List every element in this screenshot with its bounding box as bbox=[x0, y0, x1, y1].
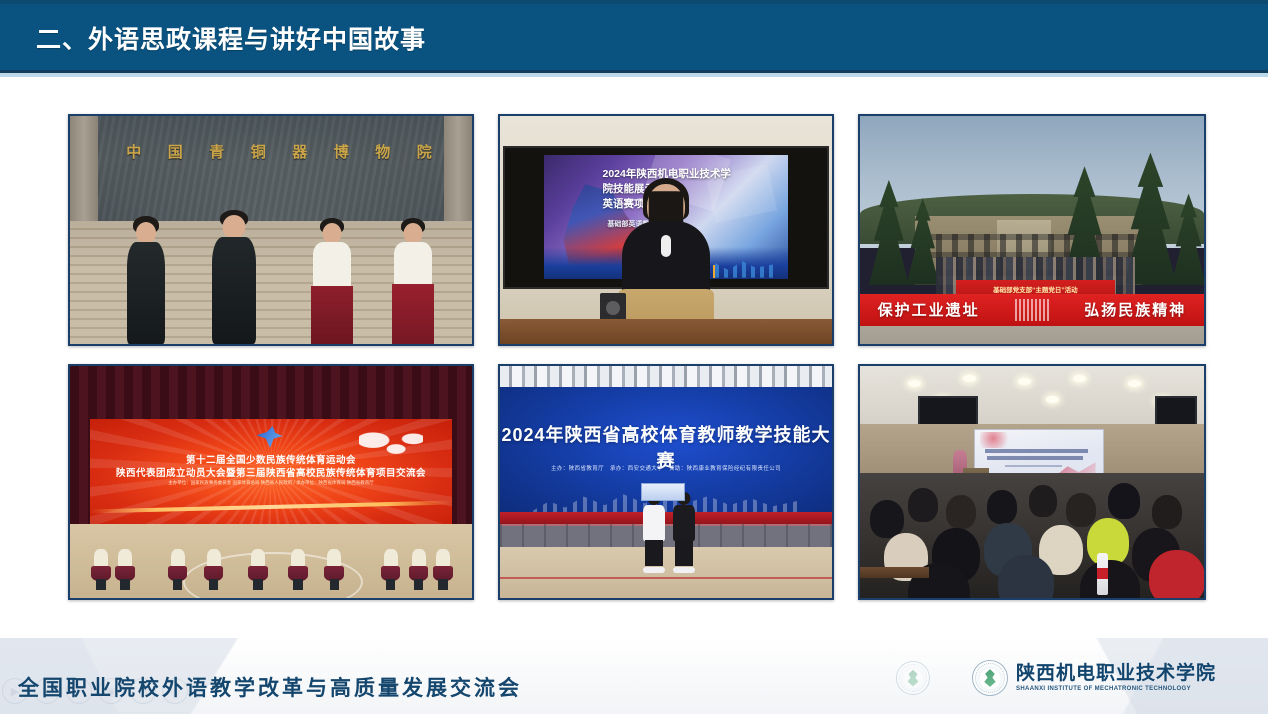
classroom-desk bbox=[500, 319, 832, 344]
ceiling-light-icon bbox=[908, 380, 921, 387]
microphone-icon bbox=[661, 235, 671, 257]
banner-left-text: 保护工业遗址 bbox=[878, 299, 980, 320]
ceiling-light-icon bbox=[1046, 396, 1059, 403]
person-figure bbox=[211, 210, 257, 344]
person-figure bbox=[126, 216, 166, 344]
audience-head-front bbox=[1080, 560, 1140, 598]
audience-head bbox=[987, 490, 1017, 524]
museum-pillar-right bbox=[444, 116, 472, 225]
audience-head bbox=[1066, 493, 1096, 527]
audience-head bbox=[870, 500, 904, 538]
figure-body bbox=[313, 242, 351, 290]
audience-head bbox=[1029, 485, 1057, 517]
audience-head bbox=[946, 495, 976, 529]
secondary-emblem-icon bbox=[896, 661, 930, 695]
gym-ceiling bbox=[500, 366, 832, 387]
banner-main: 保护工业遗址 弘扬民族精神 bbox=[860, 294, 1204, 326]
sign-char: 青 bbox=[209, 141, 224, 162]
photo-lecture-hall[interactable] bbox=[858, 364, 1206, 600]
sign-char: 院 bbox=[417, 141, 432, 162]
footer-conference-title: 全国职业院校外语教学改革与高质量发展交流会 bbox=[18, 672, 522, 702]
header-accent-strip bbox=[0, 73, 1268, 77]
backdrop-subtitle: 主办：陕西省教育厅 承办：西安交通大学 赞助：陕西康业教育保险经纪有限责任公司 bbox=[500, 464, 832, 472]
dancer-figure bbox=[251, 549, 265, 589]
banner-seal-icon bbox=[1015, 299, 1049, 321]
dancer-figure bbox=[94, 549, 108, 589]
dancer-figure bbox=[327, 549, 341, 589]
projection-line-3 bbox=[1005, 465, 1062, 467]
photo-grid: 中 国 青 铜 器 博 物 院 bbox=[68, 114, 1206, 600]
screen-line-1: 2024年陕西机电职业技术学 bbox=[602, 167, 778, 182]
audience-head bbox=[1152, 495, 1182, 529]
slide-root: 二、外语思政课程与讲好中国故事 中 国 青 铜 器 博 物 院 bbox=[0, 0, 1268, 714]
backdrop-line-3: 主办单位：国家民族事务委员会 国家体育总局 陕西省人民政府 / 承办单位：陕西省… bbox=[90, 480, 452, 487]
projection-line-1 bbox=[985, 449, 1088, 453]
award-certificate bbox=[641, 483, 685, 501]
page-title: 二、外语思政课程与讲好中国故事 bbox=[36, 20, 426, 56]
museum-wall bbox=[70, 116, 472, 225]
photo-bronze-museum[interactable]: 中 国 青 铜 器 博 物 院 bbox=[68, 114, 474, 346]
audience-head bbox=[1108, 483, 1140, 519]
photo-lecture-hall-content bbox=[860, 366, 1204, 598]
hall-ceiling bbox=[860, 366, 1204, 426]
torch-icon bbox=[257, 426, 283, 448]
figure-head bbox=[222, 215, 245, 239]
award-person-left bbox=[643, 492, 665, 570]
dancer-figure bbox=[412, 549, 426, 589]
photo-english-contest-content: 2024年陕西机电职业技术学 院技能展示周 英语赛项 基础部英语教研室 bbox=[500, 116, 832, 344]
water-bottle bbox=[1097, 553, 1108, 595]
figure-head bbox=[403, 223, 422, 244]
photo-ethnic-sports-content: 第十二届全国少数民族传统体育运动会 陕西代表团成立动员大会暨第三届陕西省高校民族… bbox=[70, 366, 472, 598]
screen-headline: 2024年陕西机电职业技术学 院技能展示周 英语赛项 bbox=[602, 167, 778, 213]
gym-floor bbox=[500, 547, 832, 598]
person-figure bbox=[311, 218, 353, 344]
audience-head bbox=[1087, 518, 1129, 566]
audience-head-front bbox=[1149, 550, 1204, 598]
person-figure bbox=[392, 218, 434, 344]
hall-table bbox=[860, 567, 929, 578]
photo-pe-teaching-contest-content: 2024年陕西省高校体育教师教学技能大赛 主办：陕西省教育厅 承办：西安交通大学… bbox=[500, 366, 832, 598]
figure-head bbox=[323, 223, 342, 244]
emblem-core-icon bbox=[983, 669, 998, 687]
sign-char: 铜 bbox=[251, 141, 266, 162]
emblem-core-icon bbox=[906, 670, 920, 687]
audience-head bbox=[908, 488, 938, 522]
sign-char: 国 bbox=[168, 141, 183, 162]
institute-name-en: SHAANXI INSTITUTE OF MECHATRONIC TECHNOL… bbox=[1016, 686, 1216, 692]
photo-ethnic-sports[interactable]: 第十二届全国少数民族传统体育运动会 陕西代表团成立动员大会暨第三届陕西省高校民族… bbox=[68, 364, 474, 600]
photo-english-contest[interactable]: 2024年陕西机电职业技术学 院技能展示周 英语赛项 基础部英语教研室 bbox=[498, 114, 834, 346]
museum-sign-text: 中 国 青 铜 器 博 物 院 bbox=[126, 141, 432, 162]
institute-logo-words: 陕西机电职业技术学院 SHAANXI INSTITUTE OF MECHATRO… bbox=[1016, 664, 1216, 692]
screen-line-2: 院技能展示周 bbox=[602, 182, 778, 197]
backdrop-line-1: 第十二届全国少数民族传统体育运动会 bbox=[90, 452, 452, 466]
figure-skirt bbox=[311, 286, 353, 344]
figure-head bbox=[136, 222, 156, 244]
dancer-figure bbox=[436, 549, 450, 589]
dancer-figure bbox=[118, 549, 132, 589]
photo-party-day-content: 基础部党支部“主题党日”活动 保护工业遗址 弘扬民族精神 bbox=[860, 116, 1204, 344]
dancer-figure bbox=[207, 549, 221, 589]
sign-char: 器 bbox=[292, 141, 307, 162]
dancer-figure bbox=[171, 549, 185, 589]
institute-name-cn: 陕西机电职业技术学院 bbox=[1016, 664, 1216, 683]
institute-emblem-icon bbox=[972, 660, 1008, 696]
award-person-right bbox=[673, 492, 695, 570]
figure-body bbox=[212, 237, 256, 344]
ceiling-light-icon bbox=[1018, 378, 1031, 385]
photo-pe-teaching-contest[interactable]: 2024年陕西省高校体育教师教学技能大赛 主办：陕西省教育厅 承办：西安交通大学… bbox=[498, 364, 834, 600]
institute-logo: 陕西机电职业技术学院 SHAANXI INSTITUTE OF MECHATRO… bbox=[972, 660, 1216, 696]
sign-char: 博 bbox=[334, 141, 349, 162]
figure-skirt bbox=[392, 284, 434, 344]
banner-right-text: 弘扬民族精神 bbox=[1084, 299, 1186, 320]
audience-head-front bbox=[998, 555, 1054, 598]
dancer-figure bbox=[291, 549, 305, 589]
screen-line-3: 英语赛项 bbox=[602, 197, 778, 212]
footer-logos: 陕西机电职业技术学院 SHAANXI INSTITUTE OF MECHATRO… bbox=[896, 660, 1216, 696]
gym-tables bbox=[500, 524, 832, 550]
photo-party-day[interactable]: 基础部党支部“主题党日”活动 保护工业遗址 弘扬民族精神 bbox=[858, 114, 1206, 346]
museum-pillar-left bbox=[70, 116, 98, 225]
figure-body bbox=[127, 242, 165, 344]
backdrop-line-2: 陕西代表团成立动员大会暨第三届陕西省高校民族传统体育项目交流会 bbox=[90, 465, 452, 479]
sign-char: 物 bbox=[375, 141, 390, 162]
lecture-audience bbox=[860, 473, 1204, 598]
dancer-figure bbox=[384, 549, 398, 589]
figure-body bbox=[394, 242, 432, 288]
photo-bronze-museum-content: 中 国 青 铜 器 博 物 院 bbox=[70, 116, 472, 344]
sign-char: 中 bbox=[126, 141, 141, 162]
projection-line-2 bbox=[987, 456, 1082, 460]
